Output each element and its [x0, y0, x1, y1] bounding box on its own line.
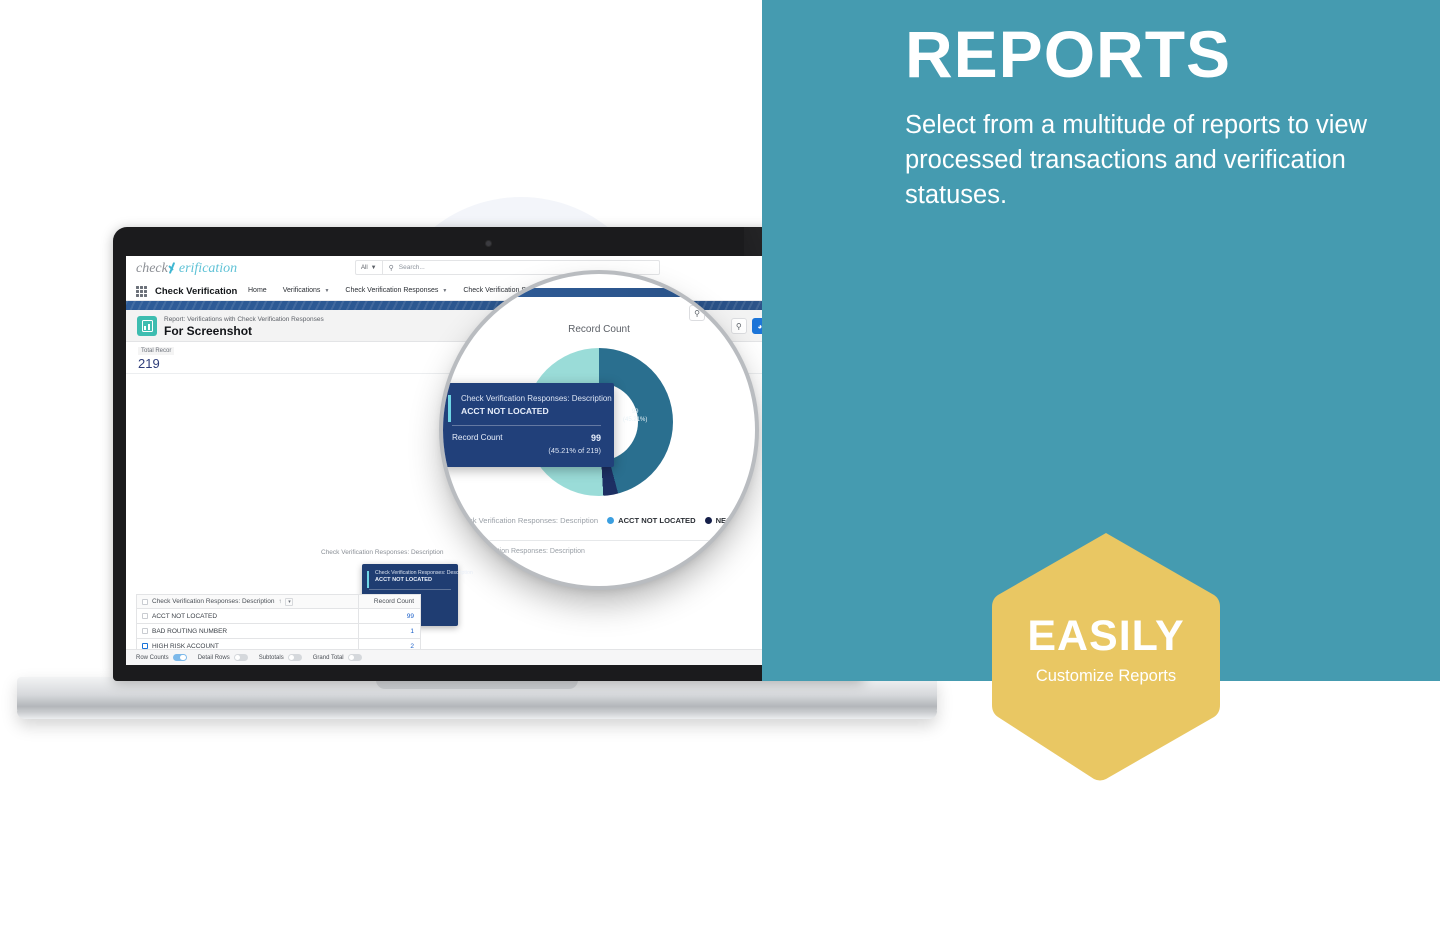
- row-checkbox[interactable]: [142, 613, 148, 619]
- chevron-down-icon: ▼: [371, 265, 377, 271]
- table-row[interactable]: BAD ROUTING NUMBER 1: [136, 624, 421, 639]
- cell-description: BAD ROUTING NUMBER: [152, 628, 227, 635]
- magnifier-loupe: ⚲ ◕ ▼ Record Count 99 (45.21%) Check Ver…: [443, 274, 755, 586]
- badge-title: EASILY: [992, 615, 1220, 658]
- chart-title: Record Count: [568, 324, 630, 335]
- nav-item-label: Verifications: [283, 287, 321, 294]
- legend-label: NEGATIVE: [716, 516, 751, 525]
- magnified-table-header-text: Check Verification Responses: Descriptio…: [453, 548, 585, 555]
- legend-axis-label: Check Verification Responses: Descriptio…: [455, 516, 598, 525]
- table-row[interactable]: ACCT NOT LOCATED 99: [136, 609, 421, 624]
- global-search-bar[interactable]: All ▼ ⚲ Search...: [355, 260, 660, 275]
- webcam-icon: [486, 241, 491, 246]
- page-title: REPORTS: [905, 20, 1425, 89]
- tooltip-field-value: ACCT NOT LOCATED: [461, 406, 601, 416]
- legend-item-acct-not-located[interactable]: ACCT NOT LOCATED: [607, 516, 695, 525]
- magnified-divider: [451, 540, 747, 541]
- app-global-header: checkerification All ▼ ⚲ Search... ★: [126, 256, 851, 282]
- tooltip-accent-bar: [448, 395, 451, 422]
- logo-word-check: check: [136, 261, 168, 276]
- brand-logo[interactable]: checkerification: [136, 260, 237, 276]
- cell-record-count: 1: [358, 624, 420, 638]
- table-header-row: Check Verification Responses: Descriptio…: [136, 594, 421, 609]
- total-records-label: Total Recor: [138, 347, 174, 355]
- tooltip-accent-bar: [367, 571, 369, 588]
- promo-slide: checkerification All ▼ ⚲ Search... ★: [0, 0, 1440, 934]
- magnified-banner-strip: [443, 288, 755, 297]
- chart-tooltip: Check Verification Responses: Descriptio…: [443, 383, 614, 467]
- filter-icon[interactable]: ▼: [733, 305, 749, 321]
- column-header-record-count[interactable]: Record Count: [358, 595, 420, 608]
- toggle-switch[interactable]: [348, 654, 362, 662]
- chart-axis-label: Check Verification Responses: Descriptio…: [321, 549, 443, 556]
- toggle-label: Subtotals: [259, 655, 284, 661]
- column-header-description[interactable]: Check Verification Responses: Descriptio…: [152, 598, 274, 605]
- report-icon: [137, 316, 157, 336]
- row-checkbox[interactable]: [142, 628, 148, 634]
- search-scope-label: All: [361, 265, 368, 271]
- tooltip-measure-label: Record Count: [452, 433, 503, 443]
- check-mark-icon: [168, 261, 179, 274]
- donut-data-value: 99: [623, 408, 647, 416]
- legend-label: ACCT NOT LOCATED: [618, 516, 695, 525]
- toggle-label: Row Counts: [136, 655, 169, 661]
- tooltip-measure-value: 99: [591, 433, 601, 443]
- search-scope-dropdown[interactable]: All ▼: [356, 261, 383, 274]
- toggle-row-counts[interactable]: Row Counts: [136, 654, 187, 662]
- app-name-label: Check Verification: [155, 286, 237, 297]
- report-subtitle: Report: Verifications with Check Verific…: [164, 316, 324, 323]
- search-input-placeholder[interactable]: Search...: [399, 264, 425, 271]
- toggle-detail-rows[interactable]: Detail Rows: [198, 654, 248, 662]
- legend-color-dot: [705, 517, 712, 524]
- app-launcher-icon[interactable]: [136, 286, 147, 297]
- nav-item-home[interactable]: Home: [248, 287, 267, 294]
- toggle-label: Grand Total: [313, 655, 344, 661]
- cell-description: ACCT NOT LOCATED: [152, 613, 217, 620]
- cell-record-count: 99: [358, 609, 420, 623]
- toggle-grand-total[interactable]: Grand Total: [313, 654, 362, 662]
- legend-item-negative[interactable]: NEGATIVE: [705, 516, 751, 525]
- nav-item-verifications[interactable]: Verifications ▼: [283, 287, 330, 294]
- badge-subtitle: Customize Reports: [992, 667, 1220, 686]
- donut-data-label: 99 (45.21%): [623, 408, 647, 424]
- nav-item-check-verification-responses[interactable]: Check Verification Responses ▼: [345, 287, 447, 294]
- magnified-toolbar: ⚲ ◕ ▼: [689, 305, 749, 321]
- tooltip-field-label: Check Verification Responses: Descriptio…: [461, 394, 601, 403]
- legend-color-dot: [607, 517, 614, 524]
- search-icon: ⚲: [389, 264, 394, 272]
- sort-ascending-icon[interactable]: ↑: [278, 599, 281, 605]
- logo-word-verification: erification: [179, 261, 237, 276]
- toggle-label: Detail Rows: [198, 655, 230, 661]
- select-all-checkbox[interactable]: [142, 599, 148, 605]
- chart-icon[interactable]: ◕: [711, 305, 727, 321]
- nav-item-label: Home: [248, 287, 267, 294]
- chevron-down-icon: ▼: [324, 288, 329, 294]
- tooltip-field-value: ACCT NOT LOCATED: [375, 577, 451, 583]
- toggle-switch[interactable]: [234, 654, 248, 662]
- chart-legend: Check Verification Responses: Descriptio…: [455, 516, 751, 525]
- easily-badge: EASILY Customize Reports: [992, 531, 1220, 781]
- nav-item-label: Check Verification Responses: [345, 287, 438, 294]
- total-records-value: 219: [138, 356, 160, 371]
- column-menu-icon[interactable]: ▾: [285, 598, 293, 606]
- donut-data-percent: (45.21%): [623, 416, 647, 424]
- search-icon[interactable]: ⚲: [689, 305, 705, 321]
- laptop-base: [17, 677, 937, 719]
- badge-text: EASILY Customize Reports: [992, 615, 1220, 686]
- report-footer-toggles: Row Counts Detail Rows Subtotals Grand T…: [126, 649, 851, 665]
- tooltip-field-label: Check Verification Responses: Descriptio…: [375, 570, 451, 576]
- marketing-body-text: Select from a multitude of reports to vi…: [905, 108, 1405, 214]
- report-title: For Screenshot: [164, 324, 252, 338]
- toggle-switch[interactable]: [288, 654, 302, 662]
- tooltip-percent: (45.21% of 219): [452, 446, 601, 455]
- laptop-lip: [17, 711, 937, 719]
- toggle-subtotals[interactable]: Subtotals: [259, 654, 302, 662]
- toggle-switch[interactable]: [173, 654, 187, 662]
